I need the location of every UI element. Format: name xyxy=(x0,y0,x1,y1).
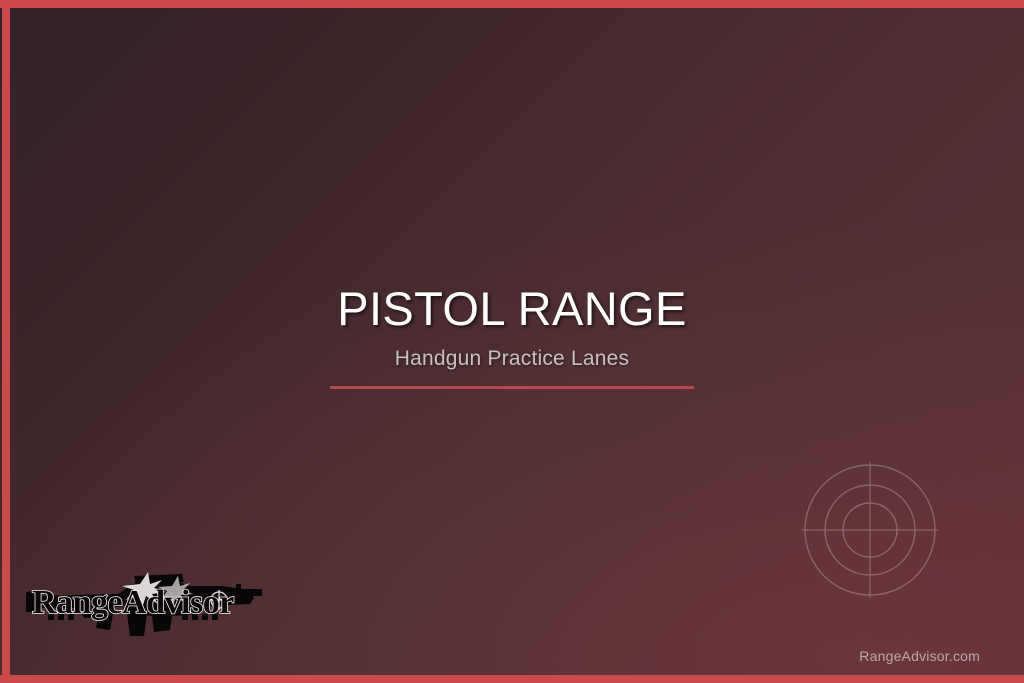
page-subtitle: Handgun Practice Lanes xyxy=(0,347,1024,371)
brand-logo-wordmark: RangeAdvisor xyxy=(32,584,234,621)
bottom-accent-rule xyxy=(0,675,1024,683)
footer-url: RangeAdvisor.com xyxy=(859,648,980,664)
presentation-slide: PISTOL RANGE Handgun Practice Lanes Rang… xyxy=(0,0,1024,683)
top-accent-rule xyxy=(0,0,1024,8)
page-title: PISTOL RANGE xyxy=(0,284,1024,333)
brand-logo: RangeAdvisor xyxy=(22,556,266,648)
title-accent-divider xyxy=(330,386,694,389)
target-reticle-icon xyxy=(800,460,940,600)
title-block: PISTOL RANGE Handgun Practice Lanes xyxy=(0,284,1024,371)
